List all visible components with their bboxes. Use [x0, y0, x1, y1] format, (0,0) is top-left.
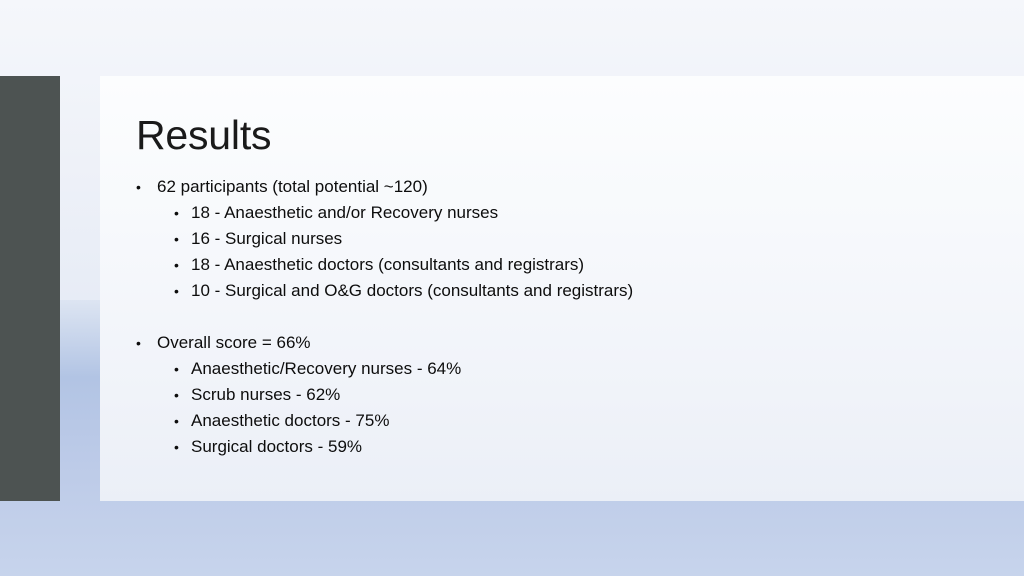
list-item-label: Scrub nurses - 62%	[191, 382, 340, 408]
bullet-dot-icon: •	[136, 174, 157, 200]
list-item-label: 18 - Anaesthetic doctors (consultants an…	[191, 252, 584, 278]
list-item: • 62 participants (total potential ~120)	[136, 174, 936, 200]
bullet-dot-icon: •	[174, 278, 191, 304]
list-item: • Overall score = 66%	[136, 330, 936, 356]
list-item: • 10 - Surgical and O&G doctors (consult…	[136, 278, 936, 304]
page-title: Results	[136, 110, 271, 160]
bullet-dot-icon: •	[174, 382, 191, 408]
bullet-dot-icon: •	[174, 434, 191, 460]
left-accent-bar	[0, 76, 60, 501]
list-item: • Anaesthetic doctors - 75%	[136, 408, 936, 434]
list-item-label: 10 - Surgical and O&G doctors (consultan…	[191, 278, 633, 304]
list-item: • 18 - Anaesthetic and/or Recovery nurse…	[136, 200, 936, 226]
bullet-list: • 62 participants (total potential ~120)…	[136, 174, 936, 460]
list-item: • 18 - Anaesthetic doctors (consultants …	[136, 252, 936, 278]
bullet-dot-icon: •	[174, 252, 191, 278]
list-item: • Anaesthetic/Recovery nurses - 64%	[136, 356, 936, 382]
bullet-dot-icon: •	[136, 330, 157, 356]
bullet-dot-icon: •	[174, 200, 191, 226]
list-item-label: 16 - Surgical nurses	[191, 226, 342, 252]
list-item-label: Anaesthetic/Recovery nurses - 64%	[191, 356, 461, 382]
list-item-label: Overall score = 66%	[157, 330, 311, 356]
list-item-label: Anaesthetic doctors - 75%	[191, 408, 389, 434]
bullet-dot-icon: •	[174, 408, 191, 434]
list-item: • 16 - Surgical nurses	[136, 226, 936, 252]
list-item-label: Surgical doctors - 59%	[191, 434, 362, 460]
slide: Results • 62 participants (total potenti…	[0, 0, 1024, 576]
list-item-label: 62 participants (total potential ~120)	[157, 174, 428, 200]
bullet-dot-icon: •	[174, 226, 191, 252]
list-item: • Scrub nurses - 62%	[136, 382, 936, 408]
list-item: • Surgical doctors - 59%	[136, 434, 936, 460]
list-gap	[136, 304, 936, 330]
list-item-label: 18 - Anaesthetic and/or Recovery nurses	[191, 200, 498, 226]
bullet-dot-icon: •	[174, 356, 191, 382]
